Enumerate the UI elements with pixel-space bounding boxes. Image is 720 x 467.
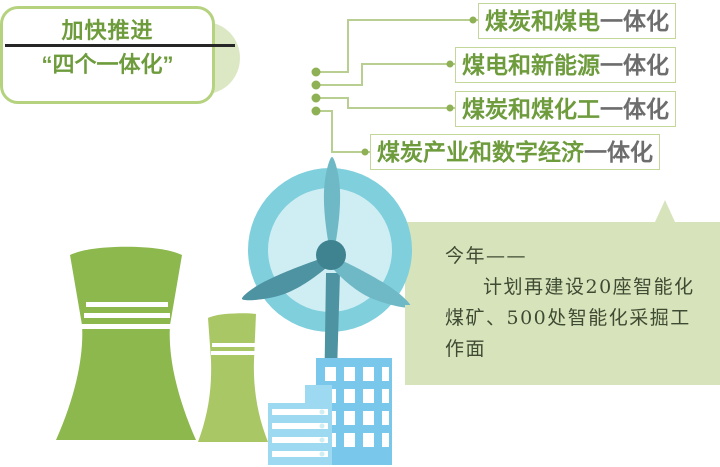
branch-label-4-suffix: 一体化 [584, 139, 653, 165]
factory-building [268, 385, 332, 465]
branch-label-3[interactable]: 煤炭和煤化工一体化 [455, 91, 676, 127]
note-text: 今年—— 计划再建设20座智能化煤矿、500处智能化采掘工作面 [445, 241, 710, 365]
cooling-tower-small [198, 313, 268, 442]
note-panel: 今年—— 计划再建设20座智能化煤矿、500处智能化采掘工作面 [405, 215, 720, 385]
title-line-2: “四个一体化” [0, 48, 215, 82]
page-title: 加快推进 “四个一体化” [0, 14, 215, 82]
branch-label-2[interactable]: 煤电和新能源一体化 [455, 47, 676, 83]
branch-label-2-prefix: 煤电和新能源 [462, 52, 600, 78]
branch-label-2-suffix: 一体化 [600, 52, 669, 78]
branch-label-1-prefix: 煤炭和煤电 [485, 8, 600, 34]
branch-label-1[interactable]: 煤炭和煤电一体化 [478, 3, 676, 39]
branch-label-4[interactable]: 煤炭产业和数字经济一体化 [370, 134, 660, 170]
branch-label-3-prefix: 煤炭和煤化工 [462, 96, 600, 122]
cooling-tower-large [56, 247, 196, 440]
branch-label-4-prefix: 煤炭产业和数字经济 [377, 139, 584, 165]
note-body: 计划再建设20座智能化煤矿、500处智能化采掘工作面 [445, 272, 710, 365]
infographic-root: 加快推进 “四个一体化” 煤炭和煤电一体化 煤电和新能源一体化 煤炭和煤化工一体… [0, 0, 720, 467]
note-lead: 今年—— [445, 241, 710, 272]
title-line-1: 加快推进 [0, 14, 215, 48]
branch-label-1-suffix: 一体化 [600, 8, 669, 34]
branch-label-3-suffix: 一体化 [600, 96, 669, 122]
